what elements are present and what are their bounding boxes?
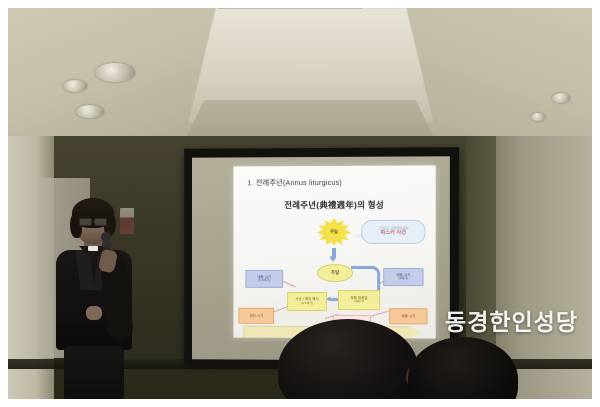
downlight-icon-3 [76,105,104,118]
presenter-hand-left [86,306,102,320]
connector-line-4 [369,310,390,317]
projected-slide: 1. 전례주년(Annus liturgicus) 전례주년(典禮週年)의 형성… [233,165,435,338]
downlight-icon-4 [552,93,570,103]
callout-maintext: 파스카 사건 [381,231,407,237]
clerical-collar-icon [88,246,98,251]
diagram-box-lent-preparation: 사순 / 재의 예식 (4-5세기) [287,292,327,311]
ceiling-speaker-icon [95,63,135,82]
center-oval-label: 주일 [331,270,339,276]
slide-subtitle: 전례주년(典禮週年)의 형성 [233,199,435,212]
arrow-down-icon [329,248,338,262]
presenter-legs [64,346,124,399]
diagram-box-development-period: 대림 시기 (5-6세기) [245,270,283,288]
glasses-icon [79,218,107,224]
callout-bubble: 그리스도 구원업적 중심 파스카 사건 [361,220,425,244]
box-line2: (4-5세기) [301,302,313,306]
curved-connector [351,266,380,291]
diagram-box-easter-feast: 부활 대축일 (3세기) [338,290,380,310]
box-line2: (5-6세기) [258,279,270,283]
diagram-box-easter-season: 부활 시기 [389,308,427,324]
photo-frame: 1. 전례주년(Annus liturgicus) 전례주년(典禮週年)의 형성… [0,0,600,407]
connector-line-1 [281,280,296,287]
downlight-icon-5 [531,113,545,121]
downlight-icon-2 [63,80,87,92]
box-line2: (4세기) [399,277,409,281]
starburst-shape: 주일 [317,218,351,246]
center-oval: 주일 [317,264,353,282]
starburst-label: 주일 [330,229,338,235]
box-line1: 성탄 시기 [249,314,263,318]
diagram-box-christmas-season: 성탄 시기 [238,308,274,324]
slide-title: 1. 전례주년(Annus liturgicus) [247,178,342,188]
watermark-text: 동경한인성당 [445,303,578,337]
box-line1: 부활 시기 [401,314,415,318]
box-line2: (3세기) [354,300,364,304]
diagram-box-pentecost-period: 대중 시기 (4세기) [383,268,423,286]
photograph: 1. 전례주년(Annus liturgicus) 전례주년(典禮週年)의 형성… [8,8,592,399]
presenter [46,198,142,398]
